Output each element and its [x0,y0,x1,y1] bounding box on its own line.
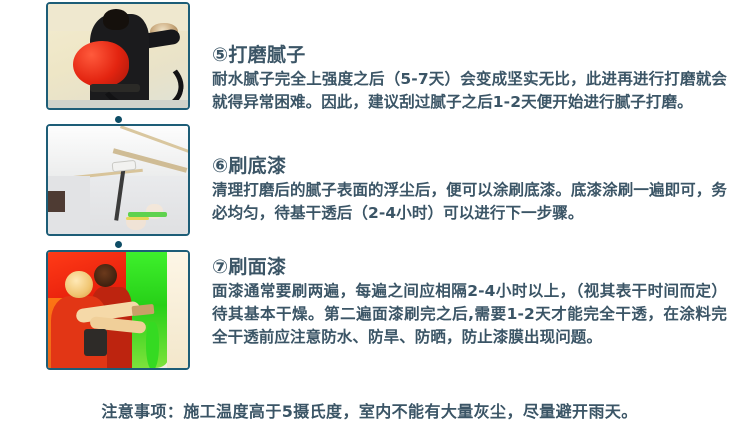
step-5-text: 耐水腻子完全上强度之后（5-7天）会变成坚实无比，此进再进行打磨就会就得异常困难… [212,68,727,114]
step-7-heading: ⑦刷面漆 [212,256,727,279]
step-7-text: 面漆通常要刷两遍，每遍之间应相隔2-4小时以上，（视其表干时间而定）待其基本干燥… [212,280,727,349]
connector-dot-2 [115,241,122,248]
photo-priming-ceiling-image [48,126,188,234]
photo1-floor [48,100,188,108]
footer-note: 注意事项：施工温度高于5摄氏度，室内不能有大量灰尘，尽量避开雨天。 [0,398,739,422]
connector-dot-1 [115,116,122,123]
photo2-yellow-stripe [126,217,148,220]
step-block-7: ⑦刷面漆 面漆通常要刷两遍，每遍之间应相隔2-4小时以上，（视其表干时间而定）待… [212,256,727,349]
photo3-person1-head [65,271,93,299]
photo3-green-drip [146,322,159,368]
photo-sanding-putty-image [48,4,188,108]
photo3-paint-bucket [84,329,106,357]
step-block-5: ⑤打磨腻子 耐水腻子完全上强度之后（5-7天）会变成坚实无比，此进再进行打磨就会… [212,44,727,114]
step-6-heading: ⑥刷底漆 [212,155,727,178]
photo1-worker-head [103,9,130,30]
photo3-unpainted-wall [167,252,188,368]
photo3-person2-head [94,264,116,287]
step-6-text: 清理打磨后的腻子表面的浮尘后，便可以涂刷底漆。底漆涂刷一遍即可，务必均匀，待基干… [212,179,727,225]
step-block-6: ⑥刷底漆 清理打磨后的腻子表面的浮尘后，便可以涂刷底漆。底漆涂刷一遍即可，务必均… [212,155,727,225]
photo2-doorway [48,191,65,213]
photo-priming-ceiling [46,124,190,236]
photo-topcoat-wall [46,250,190,370]
photo-sanding-putty [46,2,190,110]
photo-rail [46,0,194,375]
photo-topcoat-wall-image [48,252,188,368]
step-guide-page: ⑤打磨腻子 耐水腻子完全上强度之后（5-7天）会变成坚实无比，此进再进行打磨就会… [0,0,739,429]
step-5-heading: ⑤打磨腻子 [212,44,727,67]
photo2-paint-roller [112,159,137,171]
